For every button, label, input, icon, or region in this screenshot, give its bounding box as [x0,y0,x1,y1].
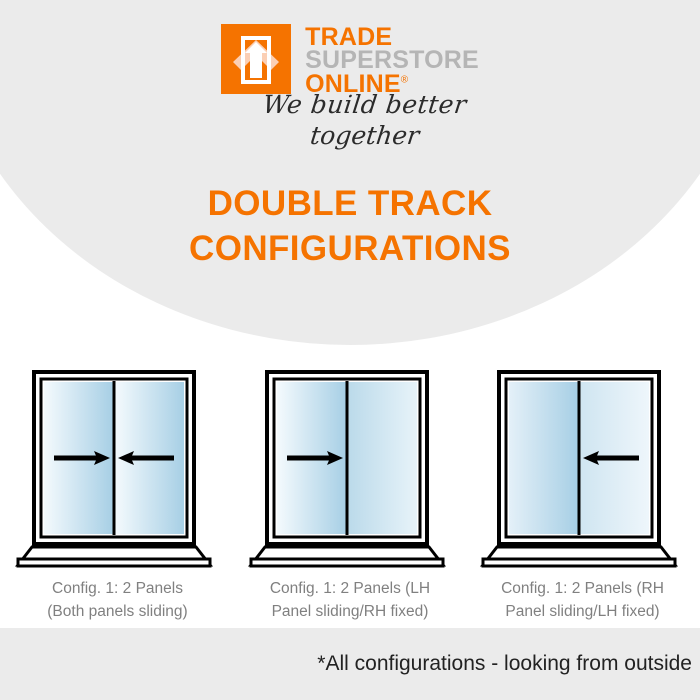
footer-note: *All configurations - looking from outsi… [317,652,700,676]
door-configuration-list: Config. 1: 2 Panels (Both panels sliding… [0,366,700,624]
door-caption: Config. 1: 2 Panels (RH Panel sliding/LH… [483,577,683,624]
registered-trademark-mark: ® [401,74,409,85]
tagline-line-1: We build better [261,90,468,119]
door-diagram-rh-sliding [475,366,690,571]
page-title: DOUBLE TRACK CONFIGURATIONS [0,182,700,272]
door-caption-line-2: (Both panels sliding) [18,600,218,623]
door-caption: Config. 1: 2 Panels (Both panels sliding… [18,577,218,624]
tagline-line-2: together [261,121,468,150]
door-caption-line-2: Panel sliding/LH fixed) [483,600,683,623]
logo-wordmark: TRADE SUPERSTORE ONLINE® [305,24,479,96]
poster-canvas: TRADE SUPERSTORE ONLINE® We build better… [0,0,700,700]
door-config-item: Config. 1: 2 Panels (LH Panel sliding/RH… [243,366,458,624]
door-caption-line-1: Config. 1: 2 Panels (RH [483,577,683,600]
footer-band: *All configurations - looking from outsi… [0,628,700,700]
page-title-line-2: CONFIGURATIONS [0,227,700,272]
door-caption-line-2: Panel sliding/RH fixed) [250,600,450,623]
door-caption-line-1: Config. 1: 2 Panels (LH [250,577,450,600]
door-config-item: Config. 1: 2 Panels (Both panels sliding… [10,366,225,624]
door-caption-line-1: Config. 1: 2 Panels [18,577,218,600]
brand-tagline: We build better together [263,90,467,150]
door-config-item: Config. 1: 2 Panels (RH Panel sliding/LH… [475,366,690,624]
door-house-icon [221,24,291,94]
door-diagram-lh-sliding [243,366,458,571]
page-title-line-1: DOUBLE TRACK [0,182,700,227]
brand-logo: TRADE SUPERSTORE ONLINE® We build better… [0,24,700,150]
door-diagram-both-sliding [10,366,225,571]
door-caption: Config. 1: 2 Panels (LH Panel sliding/RH… [250,577,450,624]
logo-row: TRADE SUPERSTORE ONLINE® [221,24,479,96]
